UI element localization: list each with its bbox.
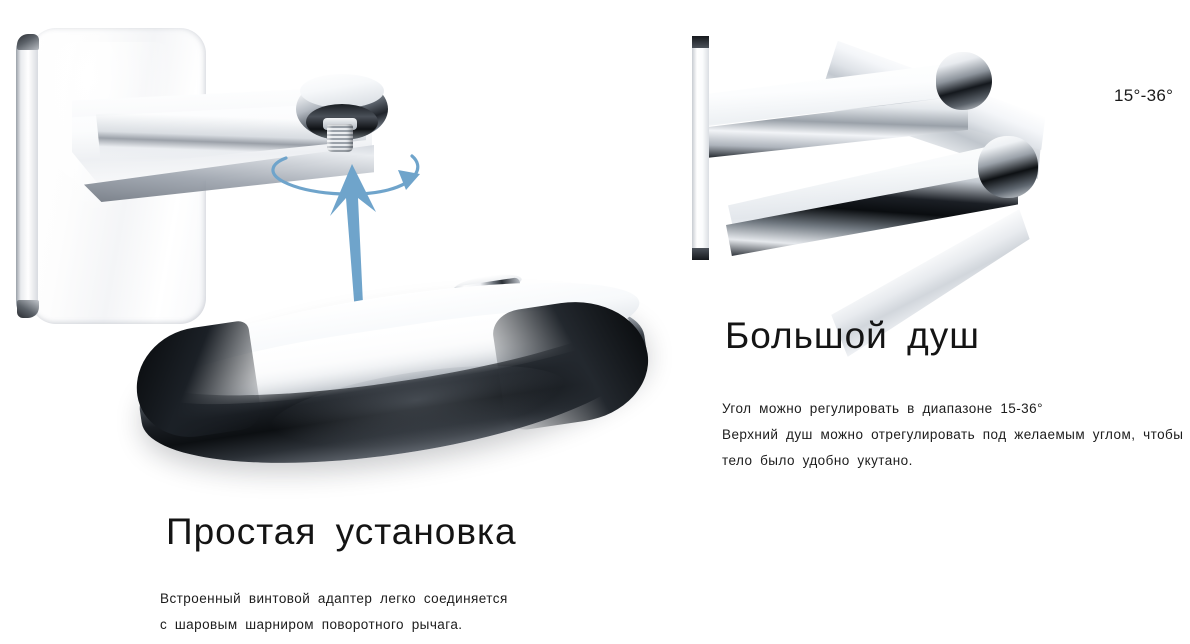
wall-plate-chrome-edge bbox=[16, 36, 38, 316]
right-panel-body: Угол можно регулировать в диапазоне 15-3… bbox=[722, 396, 1190, 474]
right-body-line-1: Угол можно регулировать в диапазоне 15-3… bbox=[722, 396, 1190, 422]
right-panel-heading: Большой душ bbox=[725, 317, 980, 354]
wall-plate-top-cap bbox=[17, 34, 39, 50]
wall-bar-top-cap bbox=[692, 36, 709, 48]
wall-bar bbox=[692, 36, 709, 260]
right-body-line-2: Верхний душ можно отрегулировать под жел… bbox=[722, 422, 1190, 448]
shower-head bbox=[118, 276, 678, 486]
wall-bar-bottom-cap bbox=[692, 248, 709, 260]
left-body-line-1: Встроенный винтовой адаптер легко соедин… bbox=[160, 586, 508, 612]
angle-range-label: 15°-36° bbox=[1114, 86, 1173, 106]
right-body-line-3: тело было удобно укутано. bbox=[722, 448, 1190, 474]
arm-position-upper-cap bbox=[936, 52, 992, 110]
left-panel-heading: Простая установка bbox=[166, 513, 517, 550]
angle-adjust-illustration bbox=[660, 10, 1120, 280]
infographic-canvas: 15°-36° Большой душ Угол можно регулиров… bbox=[0, 0, 1190, 644]
left-panel-body: Встроенный винтовой адаптер легко соедин… bbox=[160, 586, 508, 638]
installation-illustration bbox=[0, 0, 680, 500]
left-body-line-2: с шаровым шарниром поворотного рычага. bbox=[160, 612, 508, 638]
arm-position-lower-cap bbox=[978, 136, 1038, 198]
ball-joint-top-face bbox=[300, 74, 384, 108]
